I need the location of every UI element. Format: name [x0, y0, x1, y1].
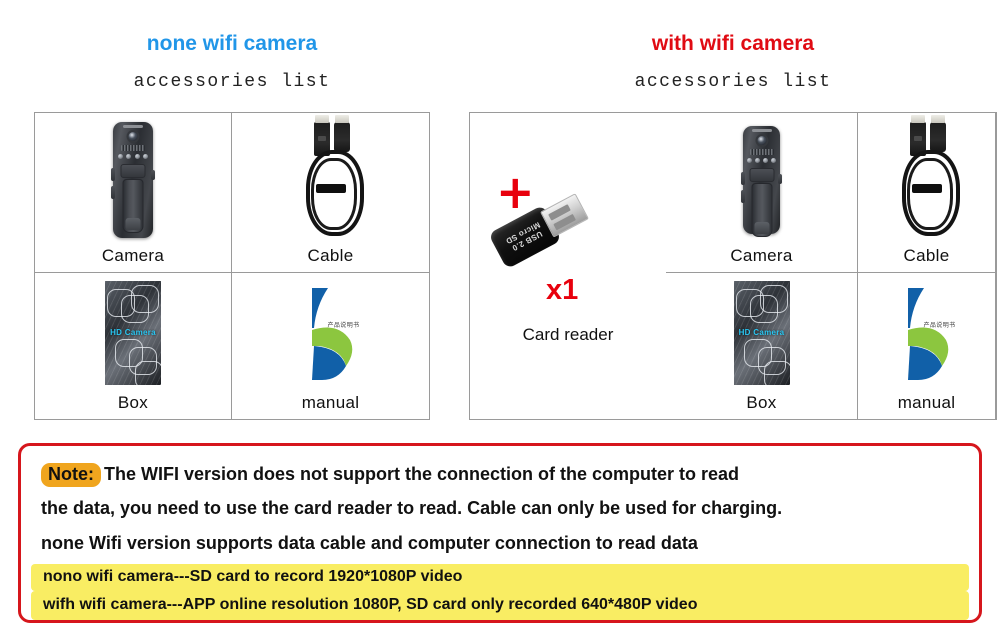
accessory-label: Box [118, 393, 148, 419]
accessory-cell-box: HD Camera Box [35, 273, 232, 419]
box-brand-text: HD Camera [734, 328, 790, 337]
note-callout-box: Note:The WIFI version does not support t… [18, 443, 982, 623]
manual-booklet-icon: 产品说明书 [298, 280, 364, 386]
retail-box-icon: HD Camera [105, 281, 161, 385]
manual-cover-text: 产品说明书 [924, 320, 956, 329]
manual-cover-text: 产品说明书 [328, 320, 360, 329]
right-accessories-grid: Camera Cable + USB 2.0 Micro SD x1 [469, 112, 997, 420]
cable-illustration [232, 113, 429, 246]
body-camera-icon [113, 122, 153, 238]
accessory-label: Camera [730, 246, 792, 272]
accessory-cell-camera: Camera [35, 113, 232, 273]
manual-booklet-icon: 产品说明书 [894, 280, 960, 386]
usb-cable-icon [894, 122, 960, 238]
accessory-label: Box [746, 393, 776, 419]
plus-icon: + [496, 169, 535, 215]
card-reader-illustration: + USB 2.0 Micro SD x1 Card reader [470, 113, 666, 419]
highlight-text-2: wifh wifi camera---APP online resolution… [43, 596, 697, 614]
note-line-1: Note:The WIFI version does not support t… [41, 463, 739, 487]
accessory-label: Card reader [470, 325, 666, 345]
retail-box-icon: HD Camera [734, 281, 790, 385]
accessory-cell-box: HD Camera Box [666, 273, 858, 419]
box-illustration: HD Camera [666, 273, 857, 393]
note-line-2: the data, you need to use the card reade… [41, 498, 782, 519]
accessory-label: manual [302, 393, 360, 419]
accessory-cell-camera: Camera [666, 113, 858, 273]
box-brand-text: HD Camera [105, 328, 161, 337]
accessory-label: Cable [308, 246, 354, 272]
accessory-label: manual [898, 393, 956, 419]
accessory-label: Cable [904, 246, 950, 272]
note-line-1-text: The WIFI version does not support the co… [104, 464, 739, 484]
left-accessories-grid: Camera Cable HD Camera Box [34, 112, 430, 420]
accessory-cell-manual: 产品说明书 manual [858, 273, 996, 419]
note-line-3: none Wifi version supports data cable an… [41, 533, 698, 554]
usb-cable-icon [298, 122, 364, 238]
manual-illustration: 产品说明书 [232, 273, 429, 393]
left-panel-title: none wifi camera [34, 32, 430, 56]
left-panel-subtitle: accessories list [34, 72, 430, 92]
manual-illustration: 产品说明书 [858, 273, 995, 393]
right-panel-subtitle: accessories list [469, 72, 997, 92]
quantity-badge: x1 [546, 276, 578, 305]
camera-illustration [666, 113, 857, 246]
box-illustration: HD Camera [35, 273, 231, 393]
body-camera-icon [743, 126, 780, 234]
highlight-text-1: nono wifi camera---SD card to record 192… [43, 568, 462, 586]
note-tag-badge: Note: [41, 463, 101, 487]
camera-illustration [35, 113, 231, 246]
accessory-cell-cable: Cable [232, 113, 429, 273]
accessory-cell-cable: Cable [858, 113, 996, 273]
right-panel-title: with wifi camera [469, 32, 997, 56]
accessory-cell-card-reader: + USB 2.0 Micro SD x1 Card reader [470, 113, 666, 419]
accessory-label: Camera [102, 246, 164, 272]
cable-illustration [858, 113, 995, 246]
accessory-cell-manual: 产品说明书 manual [232, 273, 429, 419]
